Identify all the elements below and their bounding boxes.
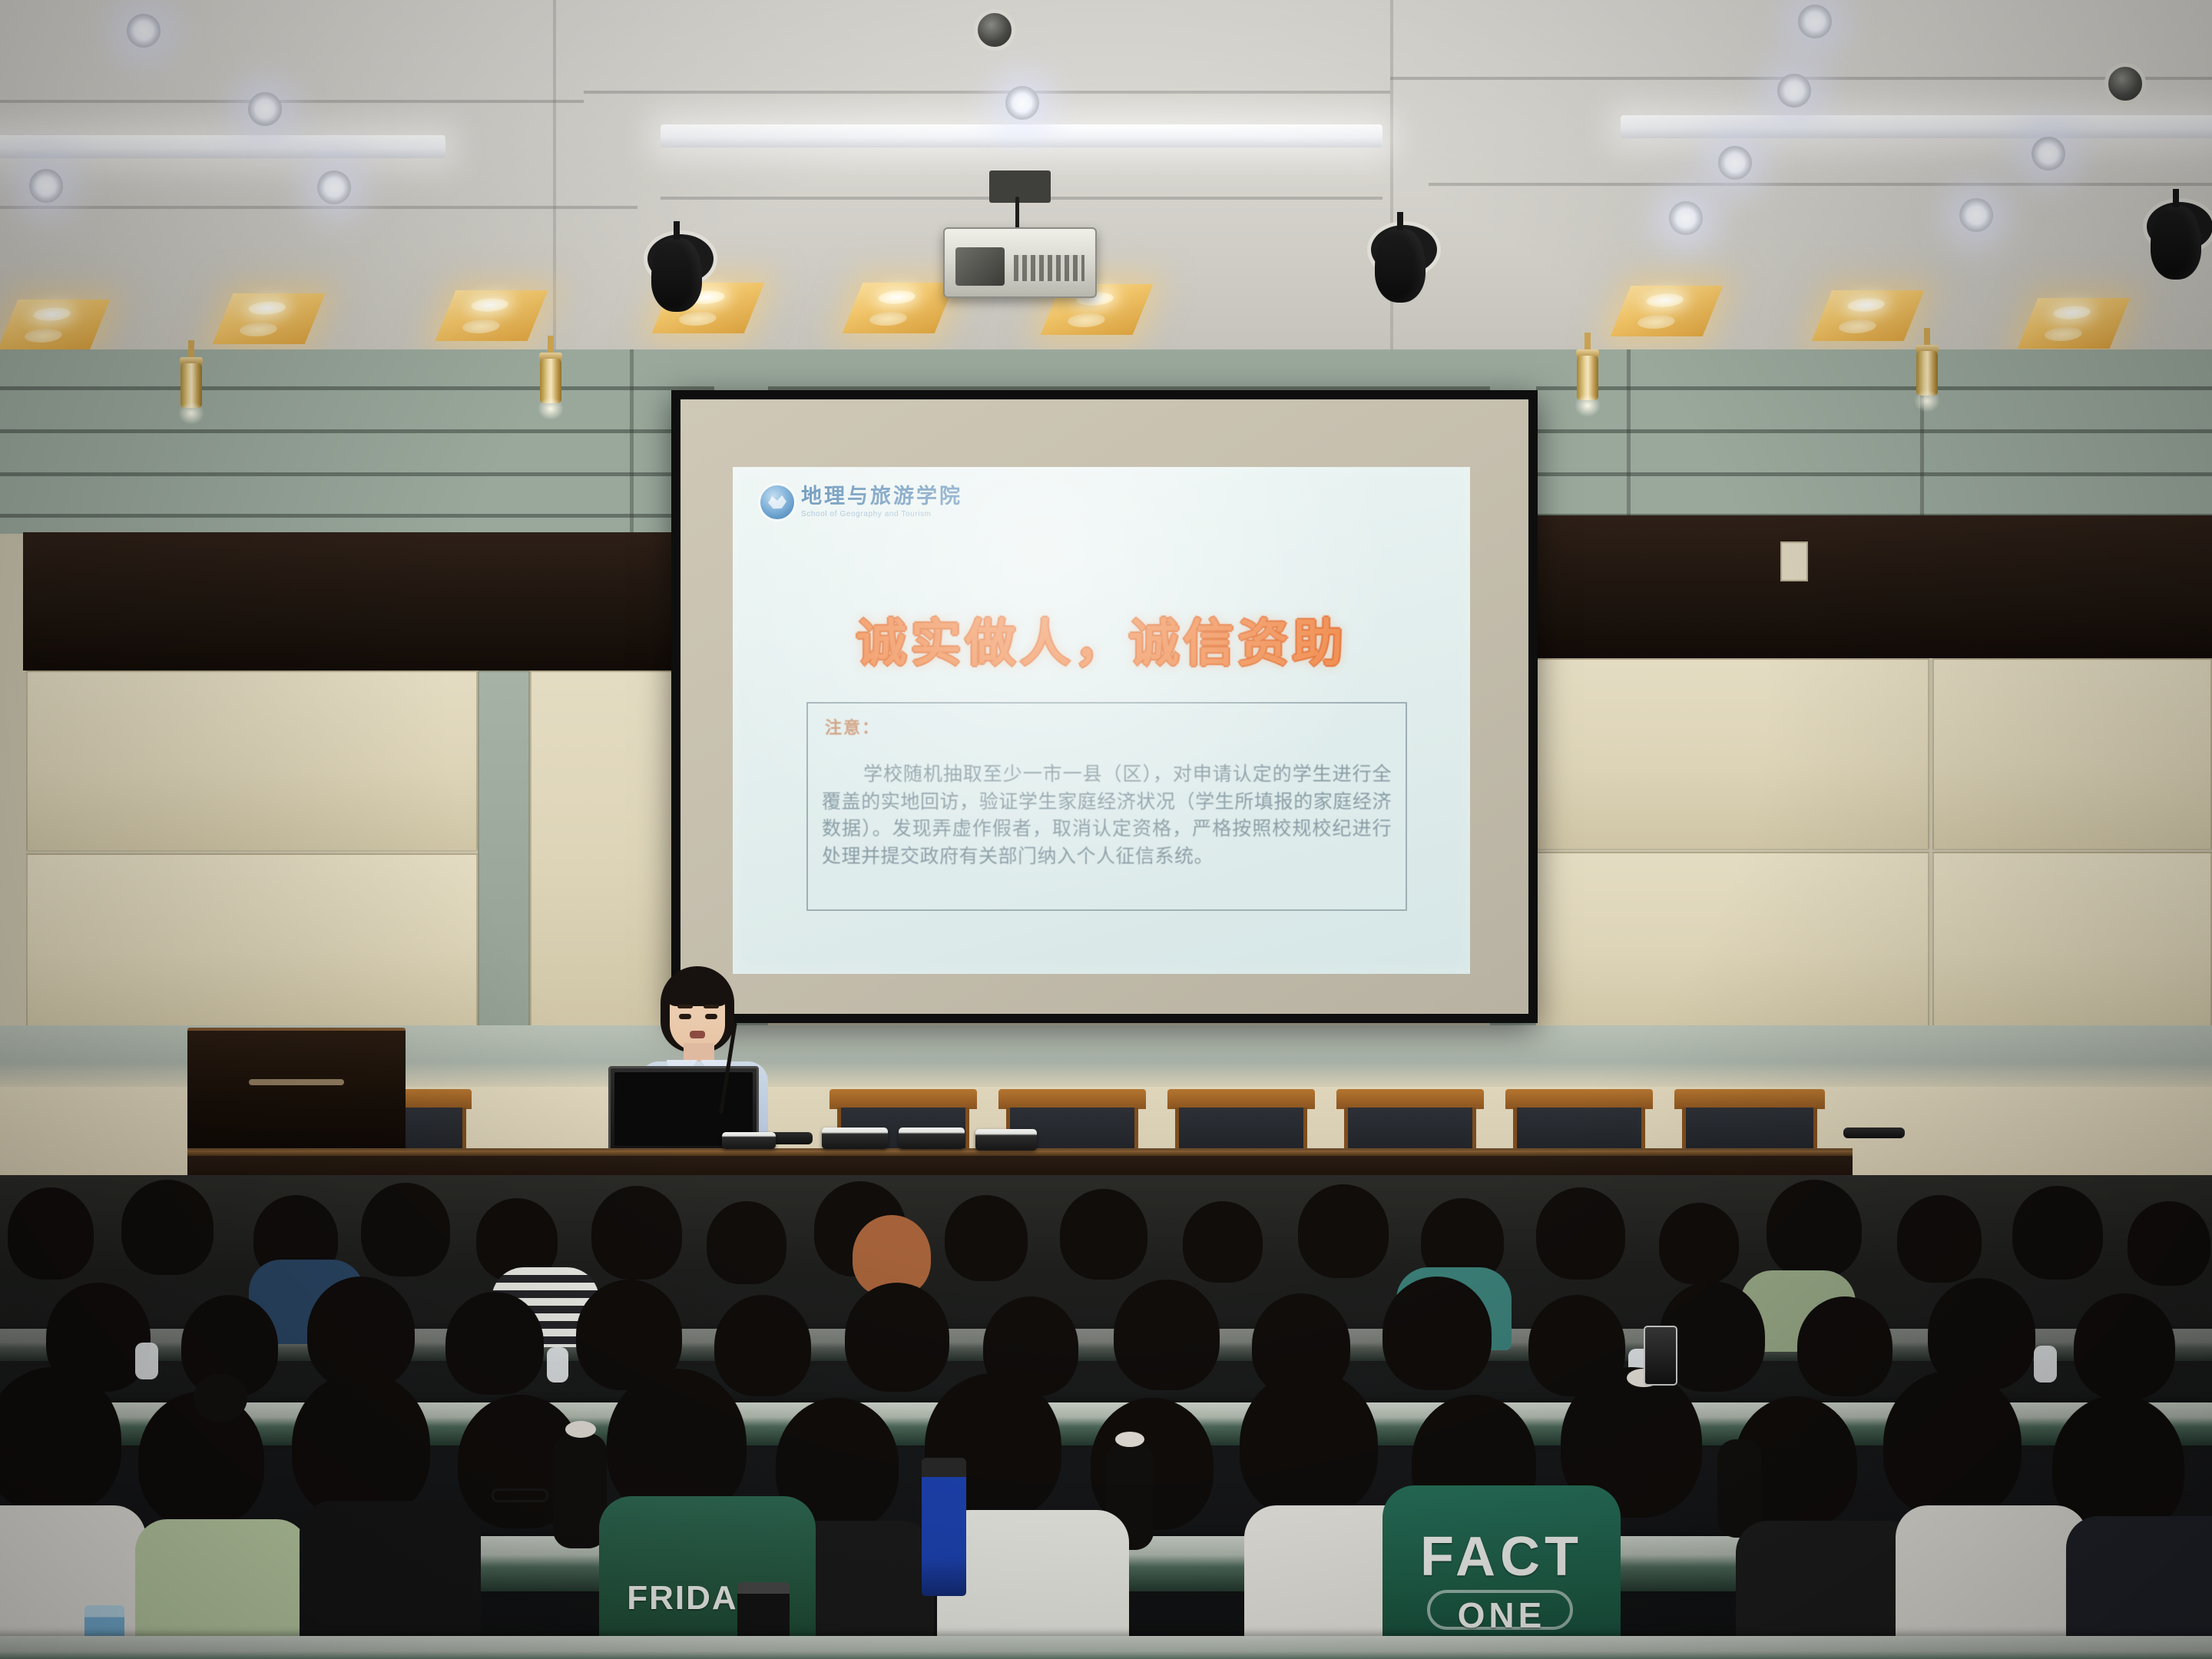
audience-head: [8, 1187, 94, 1280]
pendant-spotlight: [538, 336, 564, 409]
audience-head: [714, 1295, 811, 1396]
recessed-downlight: [1959, 198, 1993, 232]
gold-ceiling-panel-light: [435, 290, 548, 341]
logo-english-name: School of Geography and Tourism: [801, 510, 962, 518]
audience-head: [1298, 1184, 1389, 1278]
audience-head: [1060, 1189, 1147, 1280]
pendant-spotlight: [1575, 333, 1601, 406]
pendant-spotlight: [178, 340, 204, 414]
audience-head: [2128, 1201, 2210, 1286]
lectern: [187, 1028, 406, 1158]
audience-head: [1767, 1180, 1862, 1278]
wall-panel: [26, 853, 478, 1031]
audience-head: [607, 1369, 747, 1518]
note-body-text: 学校随机抽取至少一市一县（区），对申请认定的学生进行全覆盖的实地回访，验证学生家…: [822, 760, 1392, 869]
ceiling-speaker-icon: [974, 9, 1015, 51]
ceiling-strip-light: [661, 124, 1382, 147]
recessed-downlight: [29, 169, 63, 203]
audience-head: [1797, 1296, 1892, 1396]
ceiling: [0, 0, 2212, 361]
eyeglasses-icon: [492, 1488, 548, 1502]
wall-panel: [1932, 852, 2212, 1033]
gold-ceiling-panel-light: [1812, 290, 1925, 341]
wall-column: [478, 671, 530, 1031]
audience-shirt-factone: FACT ONE: [1382, 1485, 1621, 1659]
audience-head: [2012, 1186, 2103, 1280]
audience-head: [1240, 1370, 1378, 1518]
logo-chinese-name: 地理与旅游学院: [801, 486, 962, 508]
presenter-hair-front: [667, 974, 728, 1006]
projector-mount: [989, 171, 1051, 203]
microphone-base: [1843, 1128, 1905, 1138]
audience-head: [1382, 1277, 1492, 1390]
audience-head: [591, 1186, 682, 1280]
projector-lens-icon: [955, 247, 1005, 286]
wall-panel: [26, 671, 478, 852]
wall-wood-slab: [1528, 515, 2212, 658]
lecture-hall-scene: 地理与旅游学院 School of Geography and Tourism …: [0, 0, 2212, 1659]
projector-vent: [1014, 255, 1084, 281]
recessed-downlight: [1718, 146, 1752, 180]
conference-mic-unit[interactable]: [822, 1128, 888, 1149]
pendant-spotlight: [1914, 328, 1940, 402]
audience-head: [845, 1283, 949, 1392]
recessed-downlight: [1798, 5, 1832, 38]
held-phone: [1644, 1326, 1677, 1386]
audience-head: [445, 1292, 544, 1395]
audience-head: [121, 1180, 214, 1275]
gold-ceiling-panel-light: [843, 283, 955, 333]
recessed-downlight: [1669, 201, 1703, 235]
audience-head: [2074, 1293, 2175, 1399]
ceiling-projector: [943, 227, 1097, 298]
shirt-text-one: ONE: [1382, 1594, 1621, 1636]
slide-note-box: 注意： 学校随机抽取至少一市一县（区），对申请认定的学生进行全覆盖的实地回访，验…: [806, 702, 1407, 911]
ceiling-strip-light: [0, 135, 445, 158]
water-bottle: [922, 1458, 966, 1596]
theatre-spotlight: [1375, 229, 1426, 303]
globe-emblem-icon: [760, 485, 794, 519]
audience-head: [1183, 1201, 1263, 1283]
audience-head: [707, 1201, 786, 1284]
audience-head: [1897, 1195, 1982, 1283]
audience-head: [1536, 1187, 1625, 1280]
recessed-downlight: [127, 14, 161, 48]
audience-head: [1883, 1370, 2022, 1518]
gold-ceiling-panel-light: [1611, 286, 1724, 336]
wall-panel: [1530, 658, 1929, 850]
recessed-downlight: [1005, 86, 1039, 120]
shirt-text-fact: FACT: [1382, 1525, 1621, 1588]
school-logo: 地理与旅游学院 School of Geography and Tourism: [760, 485, 962, 519]
audience-desk-front-row: [0, 1636, 2212, 1659]
audience-head: [361, 1183, 450, 1277]
wall-wood-slab: [23, 532, 714, 671]
conference-mic-unit[interactable]: [975, 1129, 1037, 1151]
theatre-spotlight: [651, 238, 702, 312]
desk-object: [722, 1132, 776, 1149]
audience-area: FRIDANY FACT ONE: [0, 1175, 2212, 1659]
recessed-downlight: [1777, 74, 1811, 108]
presentation-slide: 地理与旅游学院 School of Geography and Tourism …: [733, 467, 1470, 974]
gold-ceiling-panel-light: [213, 293, 326, 344]
recessed-downlight: [317, 171, 351, 204]
audience-head: [945, 1195, 1028, 1281]
theatre-spotlight: [2151, 206, 2201, 280]
recessed-downlight: [248, 92, 282, 126]
audience-head: [1114, 1280, 1220, 1390]
recessed-downlight: [2032, 137, 2065, 171]
slide-title: 诚实做人，诚信资助: [733, 602, 1470, 676]
wall-panel: [1530, 852, 1929, 1033]
audience-head: [1659, 1203, 1739, 1284]
conference-mic-unit[interactable]: [899, 1128, 965, 1149]
wall-panel: [1932, 658, 2212, 850]
ceiling-speaker-icon: [2104, 63, 2146, 104]
ceiling-strip-light: [1621, 115, 2212, 138]
gold-ceiling-panel-light: [0, 300, 110, 350]
gold-ceiling-panel-light: [2018, 298, 2131, 349]
wall-outlet-plate: [1780, 541, 1808, 581]
audience-head: [292, 1372, 430, 1519]
note-label: 注意：: [825, 714, 880, 739]
